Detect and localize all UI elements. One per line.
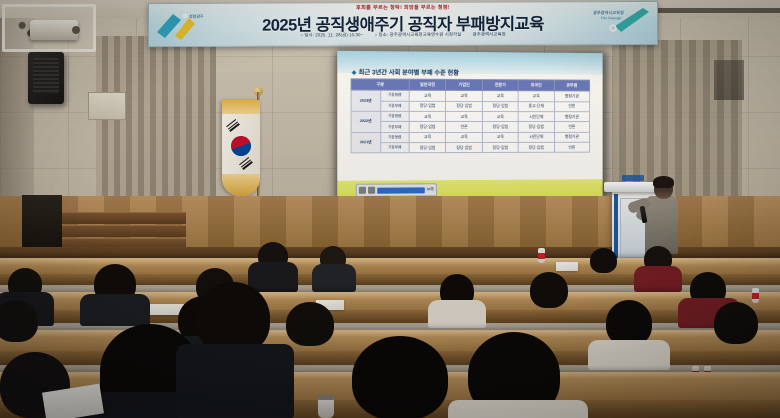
wall-vent-right <box>714 60 744 100</box>
table-header-row: 구분 일반국민 기업인 전문가 외국인 공무원 <box>351 79 589 91</box>
water-bottle <box>538 248 545 263</box>
progress-bar[interactable] <box>377 187 424 193</box>
cell-year: 2021년 <box>351 132 380 153</box>
wall-vent <box>88 92 126 120</box>
diamond-bullet-icon: ◆ <box>352 69 357 76</box>
trigram-top-icon <box>226 119 240 132</box>
th-general-public: 일반국민 <box>409 79 446 90</box>
cell-kind: 가장청렴 <box>380 111 409 122</box>
podium-emblem-icon <box>622 175 644 181</box>
slide-title: ◆최근 3년간 사회 분야별 부패 수준 현황 <box>352 67 459 77</box>
cell-value: 교육 <box>518 91 554 101</box>
projection-screen: ◆최근 3년간 사회 분야별 부패 수준 현황 구분 일반국민 기업인 전문가 … <box>337 51 602 201</box>
cell-value: 언론 <box>554 122 590 132</box>
event-banner: 청렴광주 광주광역시교육청 Edu Gwangju 후회를 부르는 청탁! 희망… <box>148 1 658 47</box>
cell-value: 교육 <box>482 91 518 101</box>
cell-value: 정당·입법 <box>446 101 482 111</box>
projector-icon <box>30 20 78 40</box>
banner-host: 광주광역시교육청 <box>473 32 506 37</box>
audience-torso <box>312 264 356 292</box>
cell-value: 정당·입법 <box>482 142 518 152</box>
cell-value: 교육 <box>482 111 518 121</box>
table-row: 2022년가장청렴교육교육교육시민단체행정기관 <box>351 111 589 122</box>
cell-value: 교육 <box>446 132 482 142</box>
cell-value: 언론 <box>554 142 590 152</box>
trigram-bottom-icon <box>239 157 253 170</box>
cell-value: 교육 <box>409 132 446 142</box>
cell-year: 2023년 <box>351 90 380 111</box>
taegeukgi-cloth <box>222 100 260 196</box>
cell-value: 행정기관 <box>554 112 590 122</box>
cell-value: 행정기관 <box>554 132 590 142</box>
cell-value: 교육 <box>482 132 518 142</box>
audience-torso <box>428 300 486 328</box>
audience-head-foreground <box>352 336 448 418</box>
th-gubun: 구분 <box>351 79 409 91</box>
th-expert: 전문가 <box>482 80 518 91</box>
cell-value: 정당·입법 <box>482 122 518 132</box>
table-row: 2023년가장청렴교육교육교육교육행정기관 <box>351 90 589 101</box>
table-row: 가장부패정당·입법정당·입법정당·입법정당·입법언론 <box>351 142 589 153</box>
cell-value: 언론 <box>554 101 590 111</box>
cell-kind: 가장청렴 <box>380 90 409 101</box>
wall-speaker-icon <box>28 52 64 104</box>
cell-value: 교육 <box>409 90 446 101</box>
audience-torso <box>176 344 294 418</box>
prev-icon[interactable] <box>368 187 375 194</box>
banner-place: ○ 장소: 광주광역시교육청교육연수원 시청각실 <box>375 32 462 37</box>
audience-torso <box>634 266 682 292</box>
flag-gold-bottom <box>222 174 260 196</box>
cell-kind: 가장부패 <box>380 101 409 112</box>
coffee-cup <box>318 398 334 418</box>
cell-value: 교육 <box>446 91 482 102</box>
cell-value: 교육 <box>446 111 482 121</box>
page-indicator: 64쪽 <box>427 187 434 192</box>
table-row: 가장부패정당·입법언론정당·입법정당·입법언론 <box>351 122 589 133</box>
table-row: 2021년가장청렴교육교육교육시민단체행정기관 <box>351 132 589 143</box>
flag-gold-top <box>222 100 260 114</box>
presentation-slide: ◆최근 3년간 사회 분야별 부패 수준 현황 구분 일반국민 기업인 전문가 … <box>337 51 602 201</box>
cell-value: 정당·입법 <box>518 122 554 132</box>
audience-head <box>590 248 617 273</box>
cell-value: 정당·입법 <box>482 101 518 111</box>
audience-head <box>530 272 568 308</box>
water-bottle <box>752 288 759 303</box>
corruption-level-table: 구분 일반국민 기업인 전문가 외국인 공무원 2023년가장청렴교육교육교육교… <box>351 78 590 153</box>
cell-value: 정당·입법 <box>518 142 554 152</box>
cell-kind: 가장부패 <box>380 122 409 132</box>
cell-value: 시민단체 <box>518 132 554 142</box>
cell-value: 정당·입법 <box>409 101 446 112</box>
slideshow-control-bar[interactable]: 64쪽 <box>356 183 437 197</box>
audience-torso <box>80 294 150 326</box>
audience-torso <box>248 262 298 292</box>
close-icon[interactable] <box>359 187 366 194</box>
cell-value: 정당·입법 <box>409 122 446 132</box>
audience-head <box>286 302 334 346</box>
lecture-hall-photo: 청렴광주 광주광역시교육청 Edu Gwangju 후회를 부르는 청탁! 희망… <box>0 0 780 418</box>
cell-value: 언론 <box>446 122 482 132</box>
paper-sheet <box>556 262 578 271</box>
audience-torso <box>588 340 670 370</box>
table-body: 2023년가장청렴교육교육교육교육행정기관가장부패정당·입법정당·입법정당·입법… <box>351 90 589 153</box>
ceiling-rail <box>640 8 780 13</box>
taeguk-symbol-icon <box>231 136 251 156</box>
cell-kind: 가장청렴 <box>380 132 409 143</box>
audience-torso <box>448 400 588 418</box>
cell-value: 정당·입법 <box>446 143 482 153</box>
speaker-hair <box>653 176 674 188</box>
table-row: 가장부패정당·입법정당·입법정당·입법종교·단체언론 <box>351 101 589 112</box>
cell-value: 시민단체 <box>518 112 554 122</box>
audience-head <box>714 302 758 344</box>
cell-value: 교육 <box>409 111 446 121</box>
slide-title-text: 최근 3년간 사회 분야별 부패 수준 현황 <box>359 69 459 77</box>
audience-head <box>0 300 38 342</box>
banner-date: ○ 일시: 2025. 11. 28(금) 15:30~ <box>300 32 363 37</box>
th-foreigner: 외국인 <box>518 80 554 91</box>
cell-value: 행정기관 <box>554 91 590 101</box>
projector-lens-icon <box>72 26 80 34</box>
cell-kind: 가장부패 <box>380 143 409 154</box>
th-business: 기업인 <box>446 79 482 90</box>
cell-year: 2022년 <box>351 111 380 132</box>
th-public-official: 공무원 <box>554 80 590 91</box>
cell-value: 종교·단체 <box>518 101 554 111</box>
cell-value: 정당·입법 <box>409 143 446 154</box>
